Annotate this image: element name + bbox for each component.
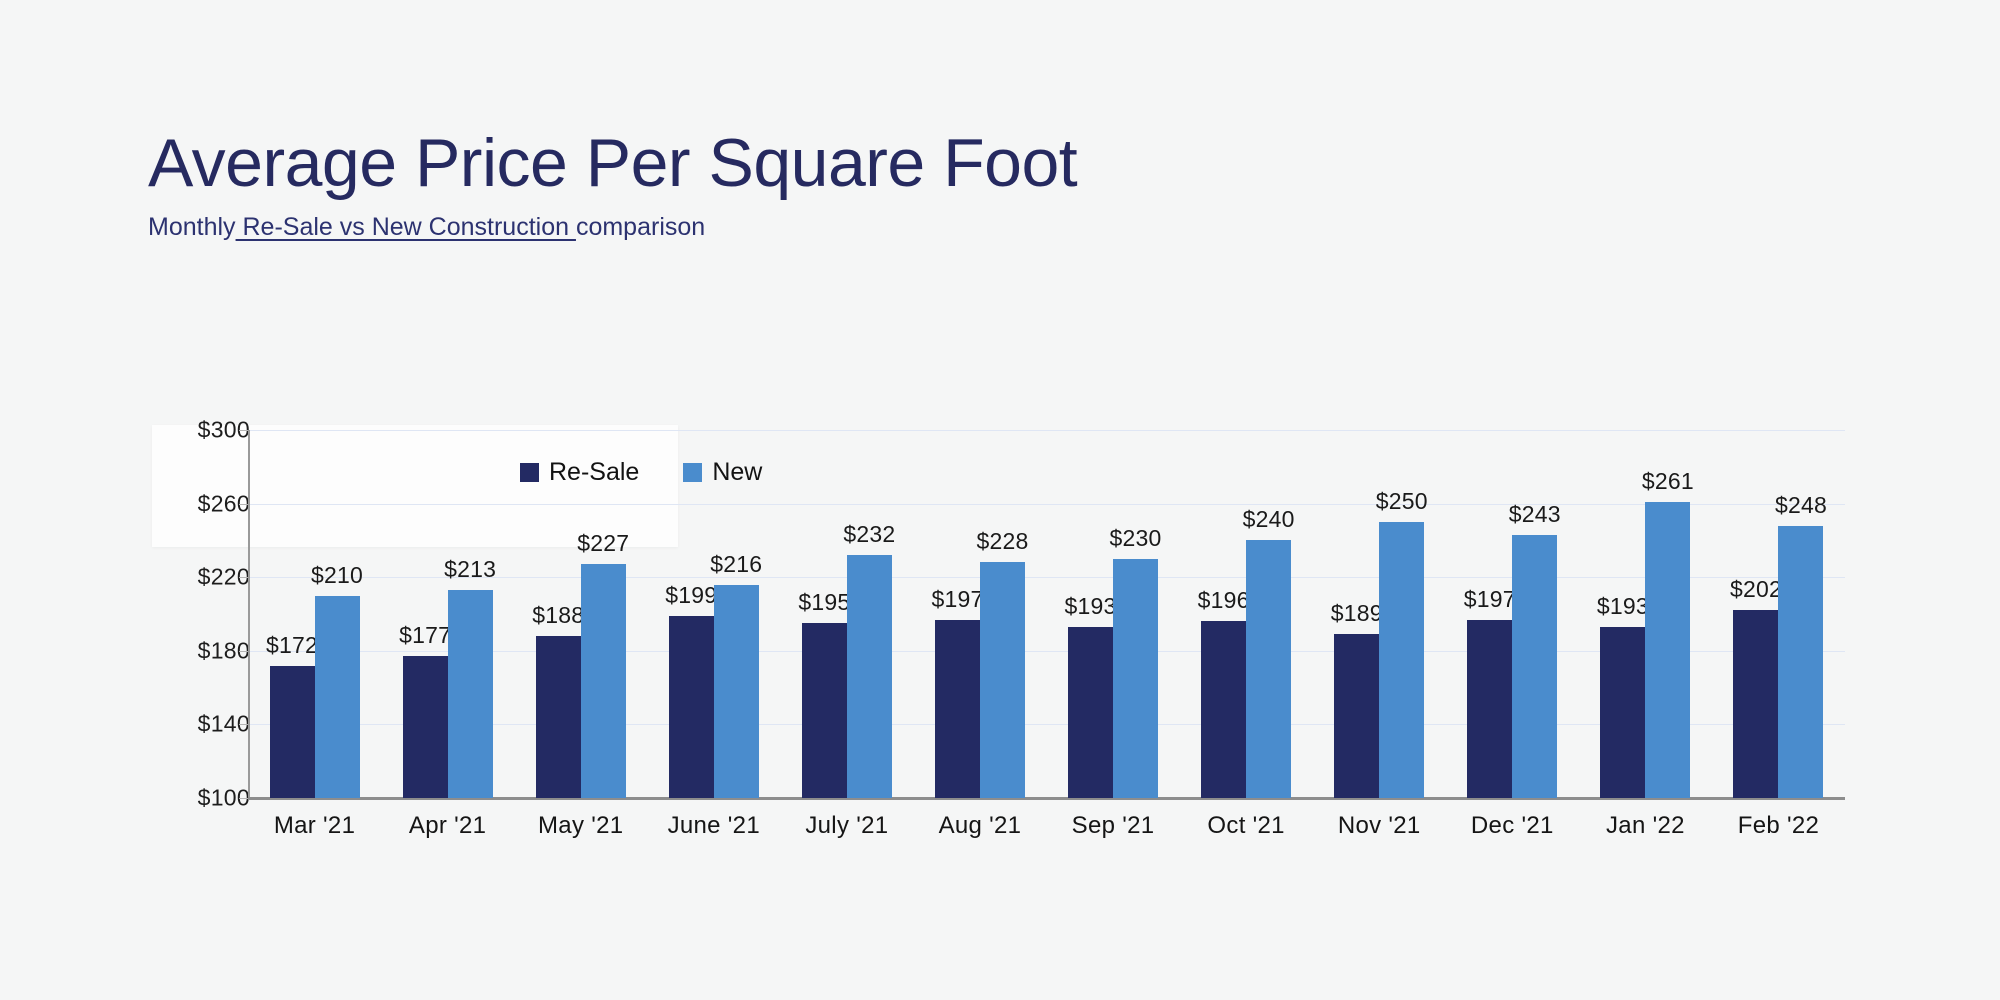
legend-swatch-icon xyxy=(520,463,539,482)
bar-re-sale[interactable] xyxy=(403,656,448,798)
bar-new[interactable] xyxy=(980,562,1025,798)
bar-new[interactable] xyxy=(1379,522,1424,798)
bar-re-sale[interactable] xyxy=(1068,627,1113,798)
bar-re-sale[interactable] xyxy=(1600,627,1645,798)
x-axis-category-label: May '21 xyxy=(538,812,623,840)
legend-label: New xyxy=(712,458,762,487)
bar-new[interactable] xyxy=(1246,540,1291,798)
bar-re-sale[interactable] xyxy=(802,623,847,798)
y-axis: $100$140$180$220$260$300 xyxy=(150,430,250,800)
y-axis-tick-mark xyxy=(239,651,248,652)
y-axis-tick-mark xyxy=(239,577,248,578)
bar-group xyxy=(270,430,360,798)
bar-re-sale[interactable] xyxy=(1201,621,1246,798)
x-axis-category-label: Dec '21 xyxy=(1471,812,1554,840)
bar-group xyxy=(1600,430,1690,798)
x-axis-category-label: Nov '21 xyxy=(1338,812,1421,840)
bar-new[interactable] xyxy=(847,555,892,798)
bar-group xyxy=(935,430,1025,798)
bar-group xyxy=(1733,430,1823,798)
x-axis-category-label: Oct '21 xyxy=(1207,812,1284,840)
y-axis-tick-mark xyxy=(239,724,248,725)
legend-swatch-icon xyxy=(683,463,702,482)
x-axis-category-label: Jan '22 xyxy=(1606,812,1685,840)
bar-group xyxy=(1201,430,1291,798)
bars-layer: $172$210$177$213$188$227$199$216$195$232… xyxy=(248,430,1845,798)
bar-new[interactable] xyxy=(315,596,360,798)
bar-re-sale[interactable] xyxy=(1334,634,1379,798)
legend-label: Re-Sale xyxy=(549,458,639,487)
bar-group xyxy=(1334,430,1424,798)
bar-group xyxy=(802,430,892,798)
legend-item-re-sale[interactable]: Re-Sale xyxy=(520,458,639,487)
x-axis: Mar '21Apr '21May '21June '21July '21Aug… xyxy=(248,812,1845,852)
bar-new[interactable] xyxy=(1113,559,1158,798)
bar-new[interactable] xyxy=(581,564,626,798)
bar-re-sale[interactable] xyxy=(669,616,714,798)
y-axis-tick-mark xyxy=(239,504,248,505)
bar-group xyxy=(1467,430,1557,798)
x-axis-category-label: July '21 xyxy=(805,812,888,840)
bar-new[interactable] xyxy=(714,585,759,798)
bar-group xyxy=(1068,430,1158,798)
bar-chart: $100$140$180$220$260$300 $172$210$177$21… xyxy=(0,0,2000,1000)
bar-new[interactable] xyxy=(1645,502,1690,798)
x-axis-category-label: June '21 xyxy=(668,812,760,840)
bar-re-sale[interactable] xyxy=(1467,620,1512,798)
x-axis-category-label: Feb '22 xyxy=(1738,812,1819,840)
legend-item-new[interactable]: New xyxy=(683,458,762,487)
bar-re-sale[interactable] xyxy=(536,636,581,798)
bar-re-sale[interactable] xyxy=(935,620,980,798)
bar-re-sale[interactable] xyxy=(1733,610,1778,798)
bar-new[interactable] xyxy=(448,590,493,798)
chart-legend: Re-SaleNew xyxy=(520,458,762,487)
x-axis-category-label: Sep '21 xyxy=(1072,812,1155,840)
bar-new[interactable] xyxy=(1512,535,1557,798)
bar-re-sale[interactable] xyxy=(270,666,315,798)
x-axis-category-label: Aug '21 xyxy=(939,812,1022,840)
bar-group xyxy=(403,430,493,798)
x-axis-category-label: Mar '21 xyxy=(274,812,355,840)
y-axis-tick-mark xyxy=(239,798,248,799)
y-axis-tick-mark xyxy=(239,430,248,431)
bar-new[interactable] xyxy=(1778,526,1823,798)
x-axis-category-label: Apr '21 xyxy=(409,812,486,840)
